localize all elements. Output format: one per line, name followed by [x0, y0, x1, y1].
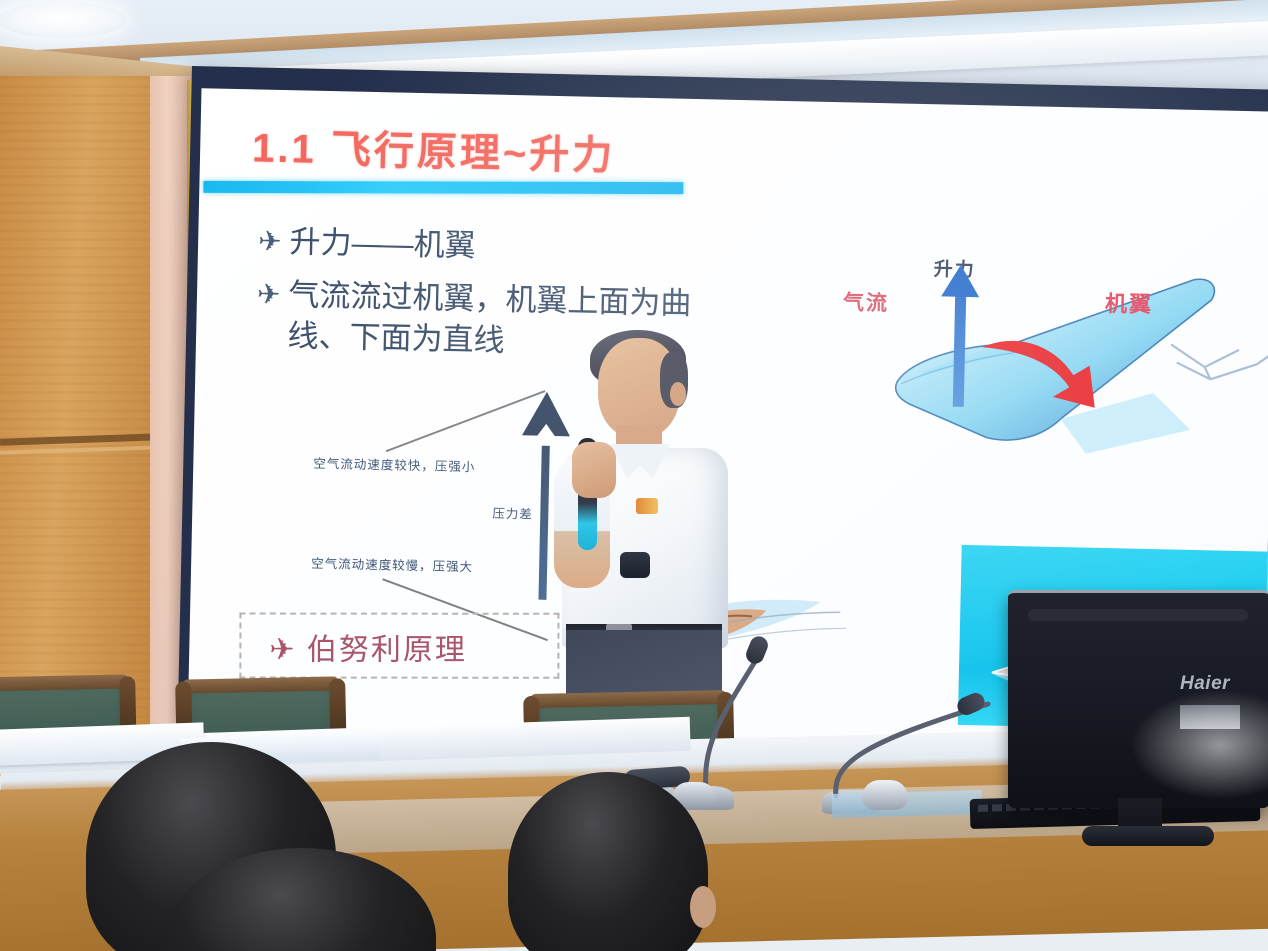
screenshot-root: 1.1 飞行原理~升力 ✈ 升力——机翼 ✈ 气流流过机翼，机翼上面为曲 线、下… — [0, 0, 1268, 951]
airflow-label: 气流 — [843, 286, 890, 317]
gooseneck-microphone-icon — [690, 640, 780, 790]
bernoulli-callout-box: ✈ 伯努利原理 — [239, 613, 559, 679]
monitor-vent — [1028, 609, 1248, 621]
computer-mouse-icon — [862, 780, 908, 810]
airplane-icon: ✈ — [258, 223, 282, 260]
list-item: ✈ 升力——机翼 — [258, 221, 819, 274]
pressure-label-top: 空气流动速度较快，压强小 — [313, 453, 475, 476]
slide-title-underline — [203, 181, 683, 194]
lapel-pin-icon — [636, 498, 658, 514]
monitor-foot — [1082, 826, 1214, 846]
lens-glare — [1130, 690, 1268, 800]
wall-seam — [0, 433, 160, 446]
bullet-text: 升力——机翼 — [289, 222, 476, 267]
presenter-hand — [572, 442, 616, 498]
pressure-label-bottom: 空气流动速度较慢，压强大 — [311, 553, 473, 576]
wall-seam-highlight — [0, 445, 160, 455]
slide-title: 1.1 飞行原理~升力 — [252, 115, 616, 181]
lift-arrow-head-icon — [941, 264, 980, 297]
ceiling-light-icon — [0, 2, 126, 38]
callout-label: 伯努利原理 — [307, 634, 467, 667]
wing-label: 机翼 — [1105, 286, 1154, 319]
audience-ear — [690, 886, 716, 928]
pressure-label-mid-left: 压力差 — [492, 503, 533, 523]
bernoulli-callout-text: ✈ 伯努利原理 — [269, 625, 467, 669]
airplane-icon: ✈ — [257, 276, 281, 313]
plane-sketch-icon — [1160, 304, 1268, 417]
airplane-icon: ✈ — [269, 634, 296, 667]
airflow-arrow-icon — [977, 333, 1109, 414]
presenter-ear — [670, 382, 686, 406]
wrist-watch-icon — [620, 552, 650, 578]
